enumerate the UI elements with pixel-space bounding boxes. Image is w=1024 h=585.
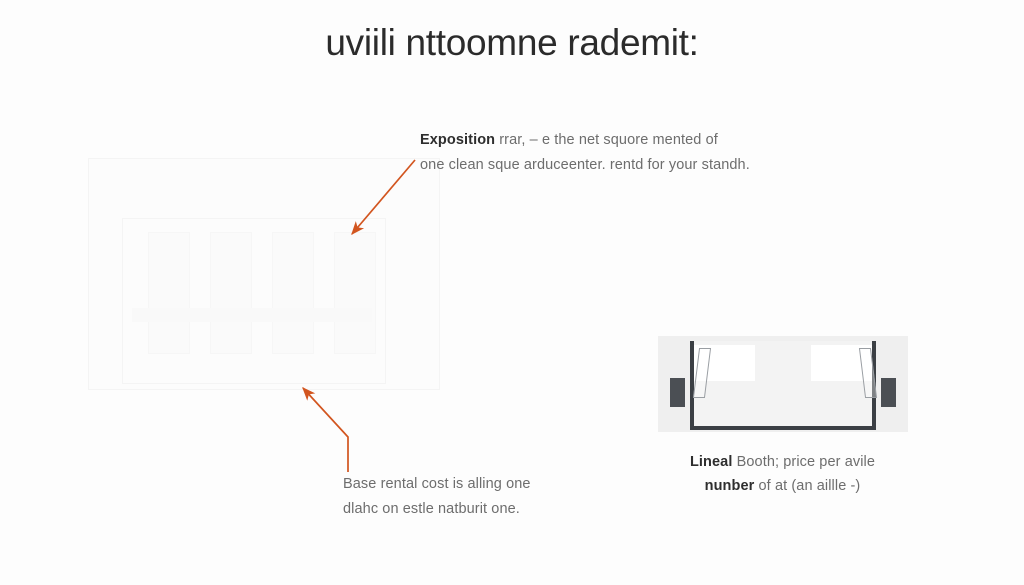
annotation-lineal-booth-emphasis-2: nunber	[705, 478, 755, 494]
ghost-outer-boundary	[88, 158, 440, 390]
arrow-to-center	[352, 160, 415, 234]
page-title: uviili nttoomne rademit:	[0, 22, 1024, 64]
annotation-exposition-emphasis: Exposition	[420, 132, 495, 148]
ghost-column-2	[210, 232, 252, 354]
booth-side-tab-right	[881, 378, 896, 407]
ghost-column-3	[272, 232, 314, 354]
annotation-lineal-booth-line-2: nunber of at (an aillle -)	[655, 474, 910, 498]
ghost-inner-boundary	[122, 218, 386, 384]
annotation-lineal-booth-line-2-rest: of at (an aillle -)	[754, 478, 860, 494]
annotation-lineal-booth: Lineal Booth; price per avile nunber of …	[655, 450, 910, 498]
annotation-exposition-line-1: Exposition rrar, – e the net squore ment…	[420, 128, 840, 153]
ghost-aisle-bar	[132, 308, 372, 322]
annotation-lineal-booth-line-1: Lineal Booth; price per avile	[655, 450, 910, 474]
annotation-base-rental: Base rental cost is alling one dlahc on …	[343, 472, 643, 522]
annotation-lineal-booth-emphasis-1: Lineal	[690, 454, 733, 470]
ghost-floorplan-illustration	[88, 158, 440, 390]
diagram-canvas: uviili nttoomne rademit: Exposition rrar…	[0, 0, 1024, 585]
ghost-column-1	[148, 232, 190, 354]
annotation-exposition: Exposition rrar, – e the net squore ment…	[420, 128, 840, 178]
annotation-exposition-line-2: one clean sque arduceenter. rentd for yo…	[420, 153, 840, 178]
booth-side-tab-left	[670, 378, 685, 407]
ghost-column-4	[334, 232, 376, 354]
arrow-to-lower-plan	[303, 388, 348, 472]
annotation-base-rental-line-1: Base rental cost is alling one	[343, 472, 643, 497]
annotation-lineal-booth-line-1-rest: Booth; price per avile	[732, 454, 875, 470]
annotation-exposition-line-1-rest: rrar, – e the net squore mented of	[495, 132, 718, 148]
annotation-base-rental-line-2: dlahc on estle natburit one.	[343, 497, 643, 522]
lineal-booth-plan	[658, 336, 908, 432]
